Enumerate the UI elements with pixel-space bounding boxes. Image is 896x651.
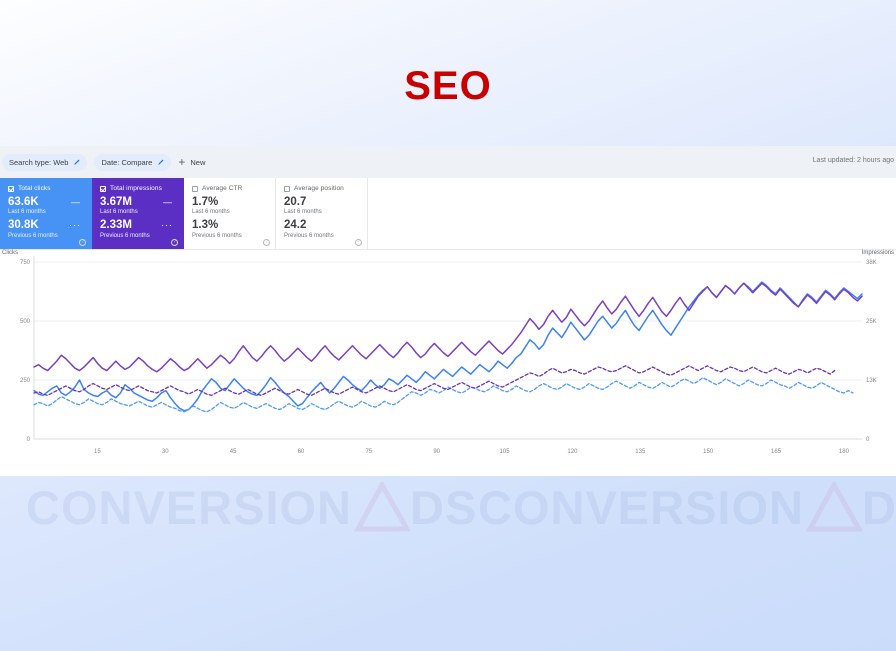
watermark-text: CONVERSION (478, 480, 804, 535)
y-axis-left-tick: 250 (20, 378, 31, 384)
metric-current-value: 1.7% (192, 195, 218, 209)
metric-previous-label: Previous 6 months (8, 233, 83, 239)
checkbox-icon[interactable] (8, 186, 14, 192)
metric-card-header: Average position (284, 185, 359, 192)
filter-chip-date[interactable]: Date: Compare (94, 154, 171, 171)
metric-card-row: Total clicks 63.6K — Last 6 months 30.8K… (0, 178, 896, 250)
metric-card-title: Total clicks (18, 185, 51, 192)
metric-card-header: Total clicks (8, 185, 83, 192)
triangle-a-icon (804, 482, 862, 534)
watermark: CONVERSION DS (26, 480, 477, 535)
x-axis-tick: 135 (635, 449, 646, 455)
add-filter-button[interactable]: + New (178, 156, 205, 168)
metric-current-row: 3.67M — (100, 195, 175, 209)
metric-previous-value: 2.33M (100, 218, 132, 232)
question-mark-icon[interactable]: ? (79, 239, 86, 246)
metric-current-label: Last 6 months (100, 209, 175, 215)
chart-series-line (34, 283, 862, 372)
filter-chip-label: Date: Compare (101, 158, 152, 167)
solid-line-legend-icon: — (163, 198, 175, 207)
metric-card-title: Total impressions (110, 185, 162, 192)
watermark-text-2: DS (862, 480, 896, 535)
y-axis-right-tick: 25K (866, 319, 877, 325)
metric-previous-label: Previous 6 months (100, 233, 175, 239)
y-axis-left-tick: 750 (20, 260, 31, 266)
search-console-panel: Search type: Web Date: Compare + New Las… (0, 146, 896, 476)
metric-previous-value: 1.3% (192, 218, 218, 232)
y-axis-right-tick: 38K (866, 260, 877, 266)
filter-chip-search-type[interactable]: Search type: Web (2, 154, 87, 171)
page-title: SEO (0, 64, 896, 109)
metric-current-value: 63.6K (8, 195, 39, 209)
metric-current-row: 63.6K — (8, 195, 83, 209)
metric-card-average-position[interactable]: Average position 20.7 Last 6 months 24.2… (276, 178, 368, 249)
solid-line-legend-icon: — (71, 198, 83, 207)
metric-previous-label: Previous 6 months (284, 233, 359, 239)
chart-series-line (34, 282, 862, 411)
checkbox-icon[interactable] (192, 186, 198, 192)
metric-previous-label: Previous 6 months (192, 233, 267, 239)
y-axis-right-tick: 13K (866, 378, 877, 384)
x-axis-tick: 150 (703, 449, 714, 455)
metric-previous-row: 1.3% (192, 218, 267, 232)
metric-card-empty-space (368, 178, 896, 249)
x-axis-tick: 165 (771, 449, 782, 455)
metric-previous-row: 2.33M ··· (100, 218, 175, 232)
filter-chip-label: Search type: Web (9, 158, 68, 167)
dashed-line-legend-icon: ··· (161, 221, 175, 230)
x-axis-tick: 45 (230, 449, 237, 455)
metric-current-value: 3.67M (100, 195, 132, 209)
x-axis-tick: 120 (567, 449, 578, 455)
chart-series-line (34, 378, 853, 412)
metric-previous-row: 24.2 (284, 218, 359, 232)
metric-card-header: Average CTR (192, 185, 267, 192)
metric-current-label: Last 6 months (192, 209, 267, 215)
performance-chart: Clicks Impressions 0025013K50025K75038K1… (0, 250, 896, 476)
checkbox-icon[interactable] (100, 186, 106, 192)
filter-toolbar: Search type: Web Date: Compare + New Las… (0, 146, 896, 178)
x-axis-tick: 180 (839, 449, 850, 455)
dashed-line-legend-icon: ··· (69, 221, 83, 230)
triangle-a-icon (352, 482, 410, 534)
pencil-icon[interactable] (73, 159, 80, 166)
metric-previous-row: 30.8K ··· (8, 218, 83, 232)
x-axis-tick: 30 (162, 449, 169, 455)
metric-current-label: Last 6 months (284, 209, 359, 215)
question-mark-icon[interactable]: ? (355, 239, 362, 246)
x-axis-tick: 60 (298, 449, 305, 455)
x-axis-tick: 90 (433, 449, 440, 455)
metric-card-total-clicks[interactable]: Total clicks 63.6K — Last 6 months 30.8K… (0, 178, 92, 249)
metric-card-total-impressions[interactable]: Total impressions 3.67M — Last 6 months … (92, 178, 184, 249)
question-mark-icon[interactable]: ? (171, 239, 178, 246)
metric-card-title: Average CTR (202, 185, 242, 192)
question-mark-icon[interactable]: ? (263, 239, 270, 246)
metric-current-value: 20.7 (284, 195, 306, 209)
metric-previous-value: 30.8K (8, 218, 39, 232)
checkbox-icon[interactable] (284, 186, 290, 192)
slide-canvas: CONVERSION DS CONVERSION DS CONVERSION D… (0, 0, 896, 651)
x-axis-tick: 105 (500, 449, 511, 455)
x-axis-tick: 75 (365, 449, 372, 455)
metric-current-row: 1.7% (192, 195, 267, 209)
y-axis-right-tick: 0 (866, 437, 870, 443)
x-axis-tick: 15 (94, 449, 101, 455)
y-axis-left-tick: 0 (27, 437, 31, 443)
watermark-text: CONVERSION (26, 480, 352, 535)
metric-card-header: Total impressions (100, 185, 175, 192)
pencil-icon[interactable] (157, 159, 164, 166)
metric-current-row: 20.7 (284, 195, 359, 209)
add-filter-label: New (190, 158, 205, 167)
watermark-text-2: DS (410, 480, 477, 535)
metric-previous-value: 24.2 (284, 218, 306, 232)
last-updated-status: Last updated: 2 hours ago (813, 157, 894, 164)
watermark: CONVERSION DS (478, 480, 896, 535)
metric-current-label: Last 6 months (8, 209, 83, 215)
metric-card-average-ctr[interactable]: Average CTR 1.7% Last 6 months 1.3% Prev… (184, 178, 276, 249)
plus-icon: + (178, 156, 185, 168)
metric-card-title: Average position (294, 185, 344, 192)
y-axis-left-tick: 500 (20, 319, 31, 325)
chart-plot-area: 0025013K50025K75038K15304560759010512013… (0, 250, 896, 476)
